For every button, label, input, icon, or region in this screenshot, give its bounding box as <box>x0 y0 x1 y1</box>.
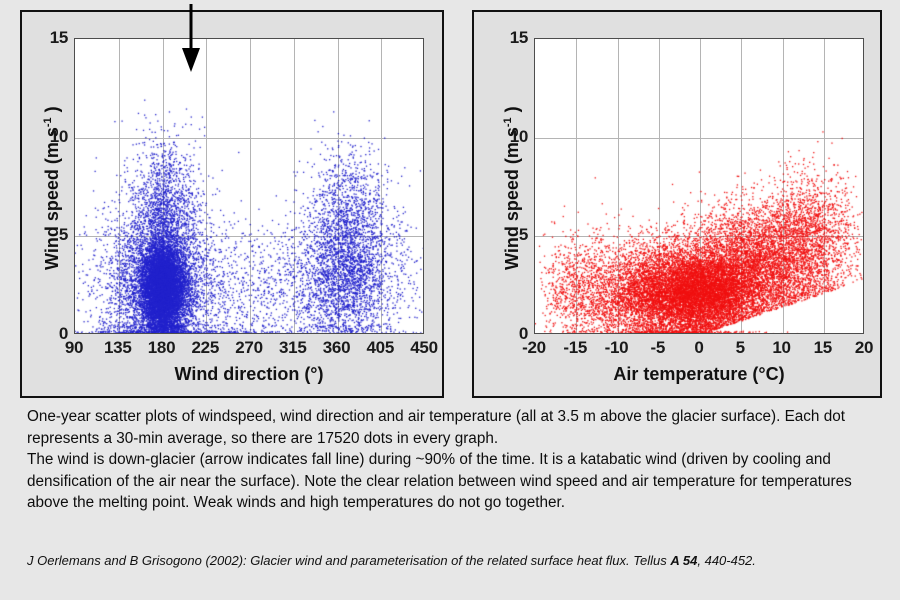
x-tick-label: 0 <box>694 338 703 358</box>
citation-post: , 440-452. <box>697 553 756 568</box>
x-tick-label: 20 <box>855 338 873 358</box>
figure-caption: One-year scatter plots of windspeed, win… <box>27 406 873 514</box>
x-axis-title-air-temperature: Air temperature (°C) <box>613 364 784 385</box>
x-tick-label: 5 <box>736 338 745 358</box>
y-axis-title-wind-speed-right: Wind speed (m s-1 ) <box>502 106 523 270</box>
y-tick-label: 0 <box>40 324 68 344</box>
x-tick-label: 450 <box>410 338 437 358</box>
plot-area-air-temperature <box>534 38 864 334</box>
caption-paragraphs: One-year scatter plots of windspeed, win… <box>27 406 873 514</box>
y-tick-label: 15 <box>40 28 68 48</box>
x-tick-label: 15 <box>814 338 832 358</box>
chart-panel-air-temperature: -20-15-10-505101520 051015 Air temperatu… <box>472 10 882 398</box>
figure-row: 90135180225270315360405450 051015 Wind d… <box>0 0 900 400</box>
scatter-points-air-temperature <box>535 39 864 334</box>
y-tick-label: 15 <box>500 28 528 48</box>
y-tick-label: 0 <box>500 324 528 344</box>
x-tick-label: 405 <box>367 338 394 358</box>
citation-reference: J Oerlemans and B Grisogono (2002): Glac… <box>27 551 879 570</box>
y-axis-title-wind-speed-left: Wind speed (m s-1 ) <box>42 106 63 270</box>
plot-area-wind-direction <box>74 38 424 334</box>
x-tick-label: -5 <box>650 338 665 358</box>
x-tick-label: -10 <box>605 338 629 358</box>
x-tick-label: 10 <box>772 338 790 358</box>
scatter-points-wind-direction <box>75 39 424 334</box>
x-tick-label: -15 <box>563 338 587 358</box>
x-tick-label: 360 <box>323 338 350 358</box>
citation-volume: A 54 <box>670 553 697 568</box>
caption-paragraph-2: The wind is down-glacier (arrow indicate… <box>27 449 873 514</box>
x-tick-label: 225 <box>192 338 219 358</box>
x-tick-label: 270 <box>235 338 262 358</box>
x-tick-label: 135 <box>104 338 131 358</box>
x-axis-title-wind-direction: Wind direction (°) <box>174 364 323 385</box>
citation-pre: J Oerlemans and B Grisogono (2002): Glac… <box>27 553 670 568</box>
x-tick-label: 180 <box>148 338 175 358</box>
x-tick-label: 315 <box>279 338 306 358</box>
chart-panel-wind-direction: 90135180225270315360405450 051015 Wind d… <box>20 10 444 398</box>
caption-paragraph-1: One-year scatter plots of windspeed, win… <box>27 406 873 449</box>
